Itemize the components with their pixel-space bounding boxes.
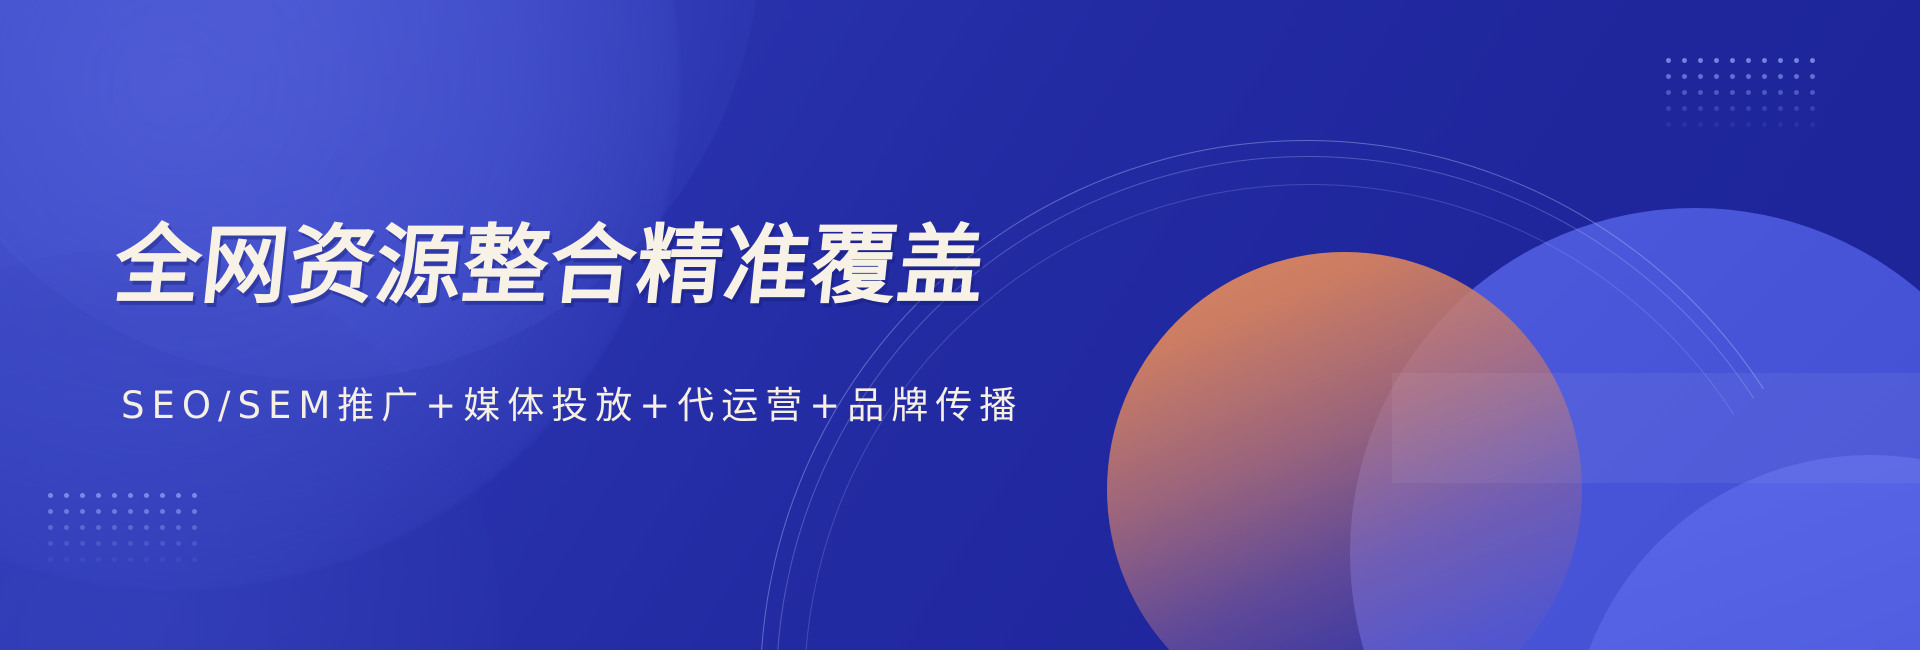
grid-dot: [1810, 74, 1815, 79]
grid-dot: [96, 541, 101, 546]
grid-dot: [1746, 106, 1751, 111]
grid-dot: [1714, 90, 1719, 95]
grid-dot: [1778, 106, 1783, 111]
grid-dot: [48, 509, 53, 514]
grid-dot: [1746, 58, 1751, 63]
grid-dot: [1682, 106, 1687, 111]
decor-translucent-band: [1392, 373, 1920, 483]
banner-subheadline: SEO/SEM推广+媒体投放+代运营+品牌传播: [121, 375, 1023, 429]
grid-dot: [1714, 106, 1719, 111]
grid-dot: [1730, 90, 1735, 95]
grid-dot: [1714, 74, 1719, 79]
banner-headline: 全网资源整合精准覆盖: [110, 221, 1028, 312]
grid-dot: [96, 525, 101, 530]
grid-dot: [1698, 122, 1703, 127]
grid-dot: [1794, 90, 1799, 95]
grid-dot: [1778, 58, 1783, 63]
grid-dot: [48, 525, 53, 530]
grid-dot: [64, 509, 69, 514]
grid-dot: [80, 509, 85, 514]
grid-dot: [1810, 90, 1815, 95]
grid-dot: [1746, 74, 1751, 79]
grid-dot: [1778, 90, 1783, 95]
grid-dot: [1762, 122, 1767, 127]
grid-dot: [1682, 122, 1687, 127]
grid-dot: [48, 557, 53, 562]
promo-banner: 全网资源整合精准覆盖 SEO/SEM推广+媒体投放+代运营+品牌传播: [0, 0, 1920, 650]
grid-dot: [1714, 122, 1719, 127]
grid-dot: [96, 493, 101, 498]
grid-dot: [64, 493, 69, 498]
grid-dot: [1698, 106, 1703, 111]
grid-dot: [1730, 122, 1735, 127]
grid-dot: [1794, 122, 1799, 127]
grid-dot: [1730, 58, 1735, 63]
grid-dot: [1730, 106, 1735, 111]
grid-dot: [1762, 58, 1767, 63]
grid-dot: [1666, 106, 1671, 111]
grid-dot: [1666, 58, 1671, 63]
grid-dot: [96, 557, 101, 562]
grid-dot: [1746, 90, 1751, 95]
grid-dot: [1746, 122, 1751, 127]
grid-dot: [1682, 90, 1687, 95]
grid-dot: [48, 541, 53, 546]
grid-dot: [64, 541, 69, 546]
grid-dot: [1666, 122, 1671, 127]
grid-dot: [64, 525, 69, 530]
grid-dot: [1762, 106, 1767, 111]
grid-dot: [80, 557, 85, 562]
grid-dot: [1794, 74, 1799, 79]
grid-dot: [80, 493, 85, 498]
grid-dot: [80, 525, 85, 530]
dot-grid-top-right: [1666, 58, 1815, 127]
grid-dot: [64, 557, 69, 562]
banner-content: 全网资源整合精准覆盖 SEO/SEM推广+媒体投放+代运营+品牌传播: [115, 0, 1023, 650]
grid-dot: [1778, 74, 1783, 79]
grid-dot: [1762, 90, 1767, 95]
grid-dot: [1810, 122, 1815, 127]
grid-dot: [1666, 74, 1671, 79]
grid-dot: [96, 509, 101, 514]
grid-dot: [1698, 74, 1703, 79]
grid-dot: [1794, 58, 1799, 63]
grid-dot: [1794, 106, 1799, 111]
grid-dot: [1810, 58, 1815, 63]
grid-dot: [1698, 90, 1703, 95]
grid-dot: [48, 493, 53, 498]
grid-dot: [1778, 122, 1783, 127]
grid-dot: [1682, 58, 1687, 63]
grid-dot: [1666, 90, 1671, 95]
grid-dot: [1762, 74, 1767, 79]
grid-dot: [80, 541, 85, 546]
grid-dot: [1698, 58, 1703, 63]
grid-dot: [1714, 58, 1719, 63]
grid-dot: [1730, 74, 1735, 79]
grid-dot: [1810, 106, 1815, 111]
grid-dot: [1682, 74, 1687, 79]
